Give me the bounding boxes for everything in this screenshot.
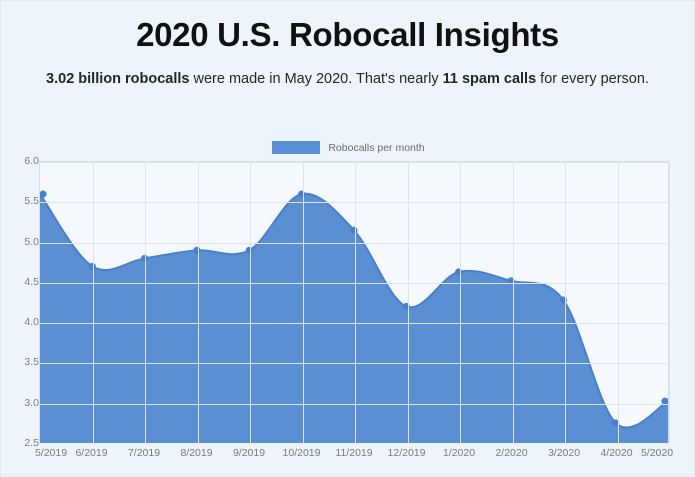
gridline-vertical bbox=[460, 162, 461, 443]
y-axis-tick-label: 5.5 bbox=[5, 195, 39, 207]
x-axis-tick-label: 7/2019 bbox=[128, 447, 160, 459]
gridline-vertical bbox=[198, 162, 199, 443]
data-point[interactable] bbox=[455, 268, 462, 275]
y-axis-tick-label: 4.5 bbox=[5, 276, 39, 288]
x-axis-tick-label: 5/2019 bbox=[35, 447, 67, 459]
legend-label: Robocalls per month bbox=[328, 142, 424, 154]
subtitle-text-1: were made in May 2020. That's nearly bbox=[189, 71, 442, 87]
data-point[interactable] bbox=[403, 303, 410, 310]
gridline-horizontal bbox=[40, 162, 668, 163]
gridline-vertical bbox=[145, 162, 146, 443]
y-axis-tick-label: 4.0 bbox=[5, 316, 39, 328]
gridline-horizontal bbox=[40, 283, 668, 284]
data-point[interactable] bbox=[40, 191, 47, 198]
gridline-vertical bbox=[669, 162, 670, 443]
x-axis-tick-label: 4/2020 bbox=[600, 447, 632, 459]
gridline-vertical bbox=[250, 162, 251, 443]
y-axis-tick-label: 3.5 bbox=[5, 356, 39, 368]
page-title: 2020 U.S. Robocall Insights bbox=[1, 15, 694, 55]
gridline-vertical bbox=[618, 162, 619, 443]
chart-container: Robocalls per month 6.05.55.04.54.03.53.… bbox=[1, 133, 695, 477]
y-axis-tick-label: 2.5 bbox=[5, 437, 39, 449]
gridline-vertical bbox=[93, 162, 94, 443]
infographic-page: 2020 U.S. Robocall Insights 3.02 billion… bbox=[0, 0, 695, 476]
x-axis-tick-label: 2/2020 bbox=[495, 447, 527, 459]
gridline-vertical bbox=[355, 162, 356, 443]
x-axis-tick-label: 11/2019 bbox=[335, 447, 372, 459]
gridline-vertical bbox=[565, 162, 566, 443]
plot-area bbox=[39, 161, 669, 443]
legend-entry-robocalls[interactable]: Robocalls per month bbox=[272, 139, 424, 157]
legend-swatch-icon bbox=[272, 141, 320, 154]
gridline-horizontal bbox=[40, 323, 668, 324]
x-axis-tick-label: 1/2020 bbox=[443, 447, 475, 459]
data-point[interactable] bbox=[350, 227, 357, 234]
x-axis-tick-label: 5/2020 bbox=[641, 447, 673, 459]
area-chart-svg bbox=[40, 162, 668, 443]
y-axis-tick-label: 6.0 bbox=[5, 155, 39, 167]
subtitle-text-2: for every person. bbox=[536, 71, 649, 87]
x-axis-tick-label: 6/2019 bbox=[75, 447, 107, 459]
x-axis-tick-label: 10/2019 bbox=[283, 447, 321, 459]
x-axis-tick-label: 8/2019 bbox=[180, 447, 212, 459]
x-axis-tick-label: 3/2020 bbox=[548, 447, 580, 459]
gridline-vertical bbox=[303, 162, 304, 443]
gridline-horizontal bbox=[40, 404, 668, 405]
subtitle-stat-spam: 11 spam calls bbox=[443, 71, 537, 87]
gridline-vertical bbox=[513, 162, 514, 443]
gridline-vertical bbox=[408, 162, 409, 443]
x-axis: 5/20196/20197/20198/20199/201910/201911/… bbox=[39, 445, 669, 467]
subtitle-stat-calls: 3.02 billion robocalls bbox=[46, 71, 189, 87]
subtitle: 3.02 billion robocalls were made in May … bbox=[1, 69, 694, 89]
gridline-horizontal bbox=[40, 363, 668, 364]
gridline-horizontal bbox=[40, 243, 668, 244]
y-axis-tick-label: 5.0 bbox=[5, 236, 39, 248]
chart-legend: Robocalls per month bbox=[1, 139, 695, 155]
y-axis: 6.05.55.04.54.03.53.02.5 bbox=[1, 161, 39, 443]
y-axis-tick-label: 3.0 bbox=[5, 397, 39, 409]
x-axis-tick-label: 12/2019 bbox=[388, 447, 426, 459]
x-axis-tick-label: 9/2019 bbox=[233, 447, 265, 459]
header: 2020 U.S. Robocall Insights 3.02 billion… bbox=[1, 1, 694, 89]
gridline-horizontal bbox=[40, 202, 668, 203]
